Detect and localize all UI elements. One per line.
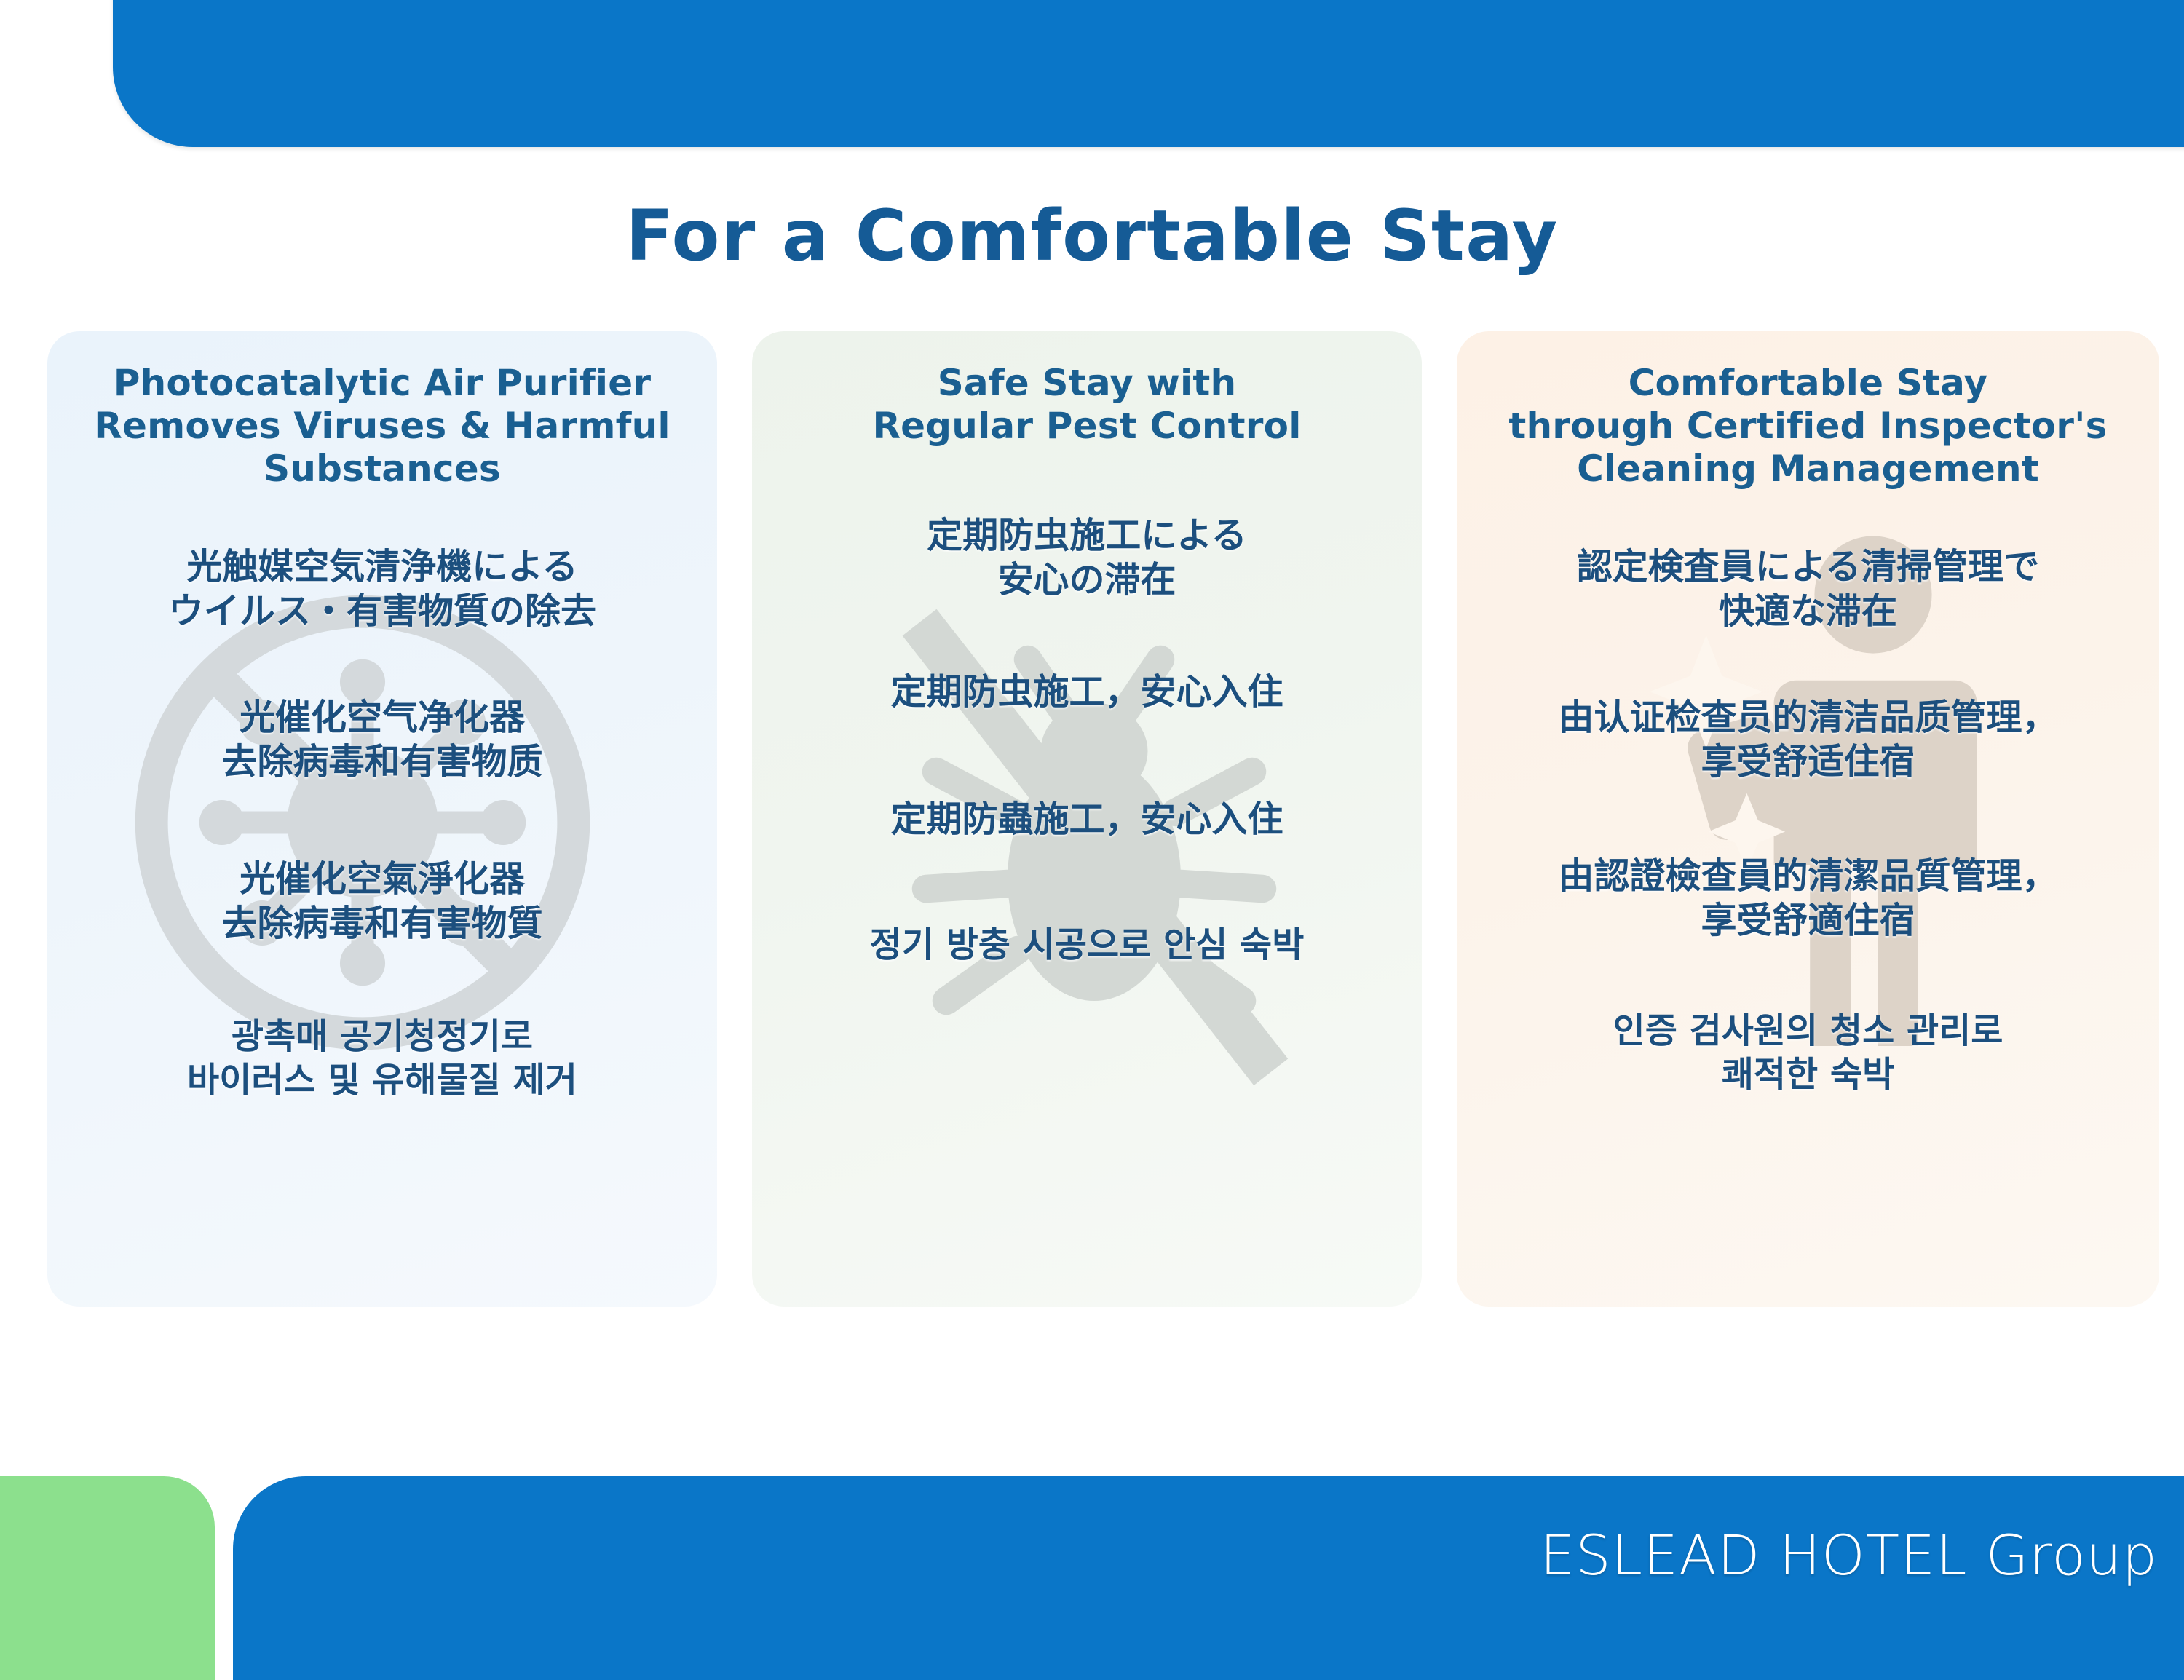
text-chinese-simplified: 由认证检查员的清洁品质管理， 享受舒适住宿: [1477, 695, 2139, 785]
card-content: Safe Stay with Regular Pest Control 定期防虫…: [772, 362, 1401, 967]
card-content: Comfortable Stay through Certified Inspe…: [1477, 362, 2139, 1096]
text-korean: 광촉매 공기청정기로 바이러스 및 유해물질 제거: [68, 1015, 697, 1102]
text-line: 정기 방충 시공으로 안심 숙박: [772, 923, 1401, 967]
text-line: 去除病毒和有害物质: [68, 740, 697, 784]
text-chinese-traditional: 定期防蟲施工，安心入住: [772, 797, 1401, 841]
text-line: 去除病毒和有害物質: [68, 901, 697, 946]
text-korean: 정기 방충 시공으로 안심 숙박: [772, 923, 1401, 967]
text-line: 光催化空气净化器: [68, 695, 697, 740]
heading-line: Cleaning Management: [1477, 448, 2139, 491]
text-line: 바이러스 및 유해물질 제거: [68, 1058, 697, 1102]
text-chinese-traditional: 光催化空氣淨化器 去除病毒和有害物質: [68, 857, 697, 946]
card-heading: Photocatalytic Air Purifier Removes Viru…: [68, 362, 697, 491]
card-heading: Safe Stay with Regular Pest Control: [772, 362, 1401, 448]
feature-card-air-purifier[interactable]: Photocatalytic Air Purifier Removes Viru…: [47, 331, 717, 1307]
heading-line: Substances: [68, 448, 697, 491]
text-line: ウイルス・有害物質の除去: [68, 589, 697, 633]
card-content: Photocatalytic Air Purifier Removes Viru…: [68, 362, 697, 1102]
text-line: 광촉매 공기청정기로: [68, 1015, 697, 1058]
heading-line: Safe Stay with: [772, 362, 1401, 405]
text-line: 定期防虫施工による: [772, 513, 1401, 558]
footer-brand-name: ESLEAD HOTEL Group: [1540, 1523, 2158, 1588]
text-korean: 인증 검사원의 청소 관리로 쾌적한 숙박: [1477, 1009, 2139, 1096]
text-line: 快適な滞在: [1477, 589, 2139, 633]
text-line: 享受舒適住宿: [1477, 898, 2139, 943]
text-line: 享受舒适住宿: [1477, 740, 2139, 784]
text-japanese: 認定検査員による清掃管理で 快適な滞在: [1477, 544, 2139, 634]
text-line: 安心の滞在: [772, 558, 1401, 602]
feature-cards-row: Photocatalytic Air Purifier Removes Viru…: [47, 331, 2184, 1307]
text-line: 定期防虫施工，安心入住: [772, 670, 1401, 714]
feature-card-cleaning-management[interactable]: Comfortable Stay through Certified Inspe…: [1457, 331, 2159, 1307]
text-line: 由認證檢查員的清潔品質管理，: [1477, 854, 2139, 898]
heading-line: Comfortable Stay: [1477, 362, 2139, 405]
text-japanese: 定期防虫施工による 安心の滞在: [772, 513, 1401, 603]
text-line: 쾌적한 숙박: [1477, 1053, 2139, 1096]
text-line: 由认证检查员的清洁品质管理，: [1477, 695, 2139, 740]
heading-line: Regular Pest Control: [772, 405, 1401, 448]
footer-green-shape: [0, 1476, 215, 1680]
text-japanese: 光触媒空気清浄機による ウイルス・有害物質の除去: [68, 544, 697, 634]
text-line: 光触媒空気清浄機による: [68, 544, 697, 589]
text-line: 光催化空氣淨化器: [68, 857, 697, 901]
card-heading: Comfortable Stay through Certified Inspe…: [1477, 362, 2139, 491]
text-chinese-traditional: 由認證檢查員的清潔品質管理， 享受舒適住宿: [1477, 854, 2139, 943]
text-line: 인증 검사원의 청소 관리로: [1477, 1009, 2139, 1053]
heading-line: Removes Viruses & Harmful: [68, 405, 697, 448]
page-title: For a Comfortable Stay: [0, 195, 2184, 277]
heading-line: Photocatalytic Air Purifier: [68, 362, 697, 405]
text-chinese-simplified: 光催化空气净化器 去除病毒和有害物质: [68, 695, 697, 785]
top-banner-shape: [113, 0, 2184, 147]
text-line: 認定検査員による清掃管理で: [1477, 544, 2139, 589]
heading-line: through Certified Inspector's: [1477, 405, 2139, 448]
text-chinese-simplified: 定期防虫施工，安心入住: [772, 670, 1401, 714]
text-line: 定期防蟲施工，安心入住: [772, 797, 1401, 841]
feature-card-pest-control[interactable]: Safe Stay with Regular Pest Control 定期防虫…: [752, 331, 1422, 1307]
